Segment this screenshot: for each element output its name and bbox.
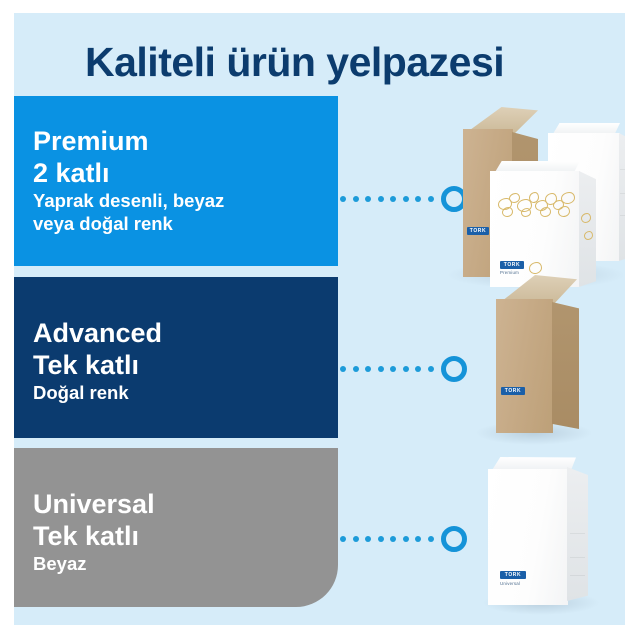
pack-side-face bbox=[552, 302, 579, 429]
tier-subtitle-universal: Beyaz bbox=[33, 552, 338, 575]
pack-side-face bbox=[567, 467, 588, 601]
tier-subtitle-premium: Yaprak desenli, beyaz veya doğal renk bbox=[33, 189, 338, 235]
pack-crease bbox=[620, 193, 625, 194]
pack-crease bbox=[620, 169, 625, 170]
connector-dot bbox=[365, 366, 371, 372]
connector-dots-advanced bbox=[340, 366, 434, 372]
product-image-advanced: TORK bbox=[469, 275, 599, 445]
pack-white-universal: TORK Universal bbox=[486, 457, 596, 609]
connector-dot bbox=[390, 366, 396, 372]
connector-dot bbox=[403, 196, 409, 202]
pack-crease bbox=[570, 533, 585, 534]
connector-dot bbox=[353, 536, 359, 542]
connector-dot bbox=[353, 366, 359, 372]
connector-ring-universal bbox=[441, 526, 467, 552]
pack-premium-patterned: TORK Premium bbox=[488, 161, 606, 289]
tier-heading-universal: Universal Tek katlı bbox=[33, 488, 338, 552]
tork-logo-caption: Universal bbox=[500, 581, 520, 586]
connector-ring-advanced bbox=[441, 356, 467, 382]
connector-dot bbox=[403, 536, 409, 542]
pack-front-face bbox=[496, 299, 553, 433]
connector-advanced bbox=[340, 352, 467, 386]
tork-logo: TORK bbox=[500, 261, 524, 269]
connector-universal bbox=[340, 522, 467, 556]
connector-dot bbox=[378, 196, 384, 202]
connector-dot bbox=[340, 196, 346, 202]
connector-dot bbox=[415, 366, 421, 372]
pack-side-face bbox=[619, 133, 625, 261]
pack-crease bbox=[570, 575, 585, 576]
connector-dot bbox=[403, 366, 409, 372]
connector-dots-universal bbox=[340, 536, 434, 542]
pack-side-face bbox=[579, 171, 596, 287]
product-image-universal: TORK Universal bbox=[476, 451, 606, 616]
product-image-premium: TORK T bbox=[432, 99, 625, 289]
connector-dot bbox=[428, 366, 434, 372]
tork-logo: TORK bbox=[467, 227, 489, 235]
connector-dot bbox=[378, 536, 384, 542]
connector-dots-premium bbox=[340, 196, 434, 202]
tork-logo: TORK bbox=[500, 571, 526, 579]
tier-panel-premium[interactable]: Premium 2 katlı Yaprak desenli, beyaz ve… bbox=[14, 96, 338, 266]
pack-crease bbox=[620, 215, 625, 216]
connector-dot bbox=[390, 536, 396, 542]
connector-dot bbox=[428, 536, 434, 542]
connector-dot bbox=[378, 366, 384, 372]
page-title: Kaliteli ürün yelpazesi bbox=[85, 39, 504, 86]
infographic-root: Kaliteli ürün yelpazesi Premium 2 katlı … bbox=[0, 0, 640, 640]
tier-heading-advanced: Advanced Tek katlı bbox=[33, 317, 338, 381]
connector-dot bbox=[365, 536, 371, 542]
connector-dot bbox=[365, 196, 371, 202]
connector-dot bbox=[415, 536, 421, 542]
pack-crease bbox=[570, 557, 585, 558]
connector-dot bbox=[390, 196, 396, 202]
tier-heading-premium: Premium 2 katlı bbox=[33, 125, 338, 189]
connector-dot bbox=[415, 196, 421, 202]
tork-logo: TORK bbox=[501, 387, 525, 395]
connector-dot bbox=[340, 366, 346, 372]
tier-panel-advanced[interactable]: Advanced Tek katlı Doğal renk bbox=[14, 277, 338, 438]
connector-dot bbox=[353, 196, 359, 202]
pack-kraft-advanced: TORK bbox=[477, 275, 589, 437]
infographic-canvas: Kaliteli ürün yelpazesi Premium 2 katlı … bbox=[14, 13, 625, 625]
tier-subtitle-advanced: Doğal renk bbox=[33, 381, 338, 404]
tier-panel-universal[interactable]: Universal Tek katlı Beyaz bbox=[14, 448, 338, 607]
connector-dot bbox=[340, 536, 346, 542]
